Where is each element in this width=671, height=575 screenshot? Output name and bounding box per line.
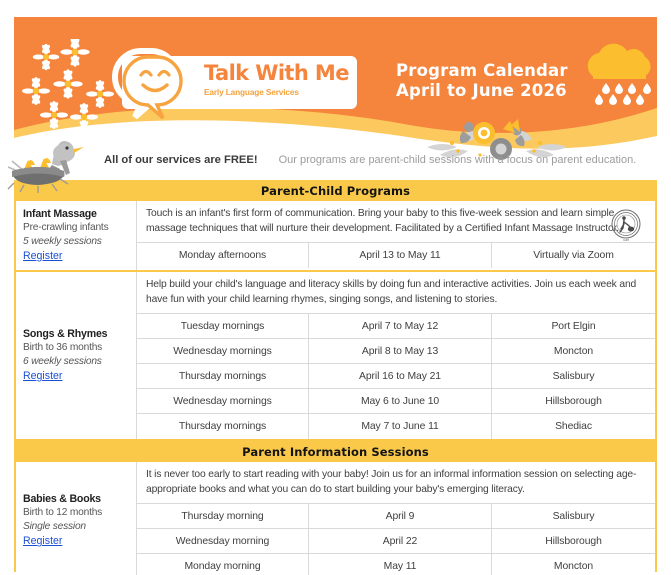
free-services-bold: All of our services are FREE! (104, 154, 258, 166)
program-title-line1: Program Calendar (396, 61, 568, 81)
schedule-row: Tuesday mornings April 7 to May 12 Port … (137, 314, 655, 339)
program-row-babies-books: Babies & Books Birth to 12 months Single… (16, 462, 655, 575)
program-title-line2: April to June 2026 (396, 81, 568, 101)
logo-title: Talk With Me (204, 63, 354, 84)
schedule-location: Moncton (492, 339, 655, 363)
schedule-dates: April 8 to May 13 (309, 339, 492, 363)
program-detail-infant-massage: Touch is an infant's first form of commu… (137, 201, 655, 270)
program-sessions: Single session (23, 520, 130, 534)
rain-cloud-icon (572, 43, 657, 105)
schedule-dates: May 6 to June 10 (309, 389, 492, 413)
svg-text:IAIM: IAIM (623, 238, 629, 242)
schedule-dates: April 7 to May 12 (309, 314, 492, 338)
schedule-dates: May 7 to June 11 (309, 414, 492, 439)
schedule-location: Moncton (492, 554, 655, 575)
schedule-row: Monday morning May 11 Moncton (137, 554, 655, 575)
program-description: Help build your child's language and lit… (137, 272, 655, 314)
logo-subtitle: Early Language Services (204, 87, 354, 97)
program-age-range: Birth to 36 months (23, 341, 130, 355)
schedule-when: Thursday morning (137, 504, 309, 528)
infant-massage-association-seal-icon: IAIM (606, 205, 646, 245)
schedule-row: Thursday morning April 9 Salisbury (137, 504, 655, 529)
schedule-row: Wednesday mornings April 8 to May 13 Mon… (137, 339, 655, 364)
program-description-text: Help build your child's language and lit… (146, 279, 636, 305)
schedule-row: Wednesday mornings May 6 to June 10 Hill… (137, 389, 655, 414)
schedule-when: Tuesday mornings (137, 314, 309, 338)
program-calendar-page: Talk With Me Early Language Services Pro… (0, 0, 671, 575)
schedule-location: Salisbury (492, 364, 655, 388)
schedule-location: Salisbury (492, 504, 655, 528)
program-sessions: 5 weekly sessions (23, 235, 130, 249)
program-age-range: Pre-crawling infants (23, 221, 130, 235)
daisy-flowers-icon (22, 39, 117, 129)
program-name: Songs & Rhymes (23, 327, 130, 341)
schedule-dates: April 16 to May 21 (309, 364, 492, 388)
program-sessions: 6 weekly sessions (23, 355, 130, 369)
program-info-infant-massage: Infant Massage Pre-crawling infants 5 we… (16, 201, 137, 270)
schedule-dates: April 22 (309, 529, 492, 553)
program-name: Babies & Books (23, 492, 130, 506)
program-info-songs-rhymes: Songs & Rhymes Birth to 36 months 6 week… (16, 272, 137, 439)
speech-bubble-smiley-logo-icon (111, 47, 191, 125)
bird-nest-icon (2, 131, 100, 197)
program-row-infant-massage: Infant Massage Pre-crawling infants 5 we… (16, 201, 655, 272)
free-services-light: Our programs are parent-child sessions w… (279, 154, 637, 166)
schedule-dates: April 13 to May 11 (309, 243, 492, 268)
section-header-parent-information: Parent Information Sessions (16, 441, 655, 462)
schedule-location: Virtually via Zoom (492, 243, 655, 268)
program-name: Infant Massage (23, 207, 130, 221)
program-description: Touch is an infant's first form of commu… (137, 201, 655, 243)
schedule-location: Port Elgin (492, 314, 655, 338)
program-info-babies-books: Babies & Books Birth to 12 months Single… (16, 462, 137, 575)
program-detail-songs-rhymes: Help build your child's language and lit… (137, 272, 655, 439)
schedule-location: Hillsborough (492, 529, 655, 553)
free-services-notice: All of our services are FREE! Our progra… (104, 151, 649, 169)
schedule-dates: April 9 (309, 504, 492, 528)
schedule-dates: May 11 (309, 554, 492, 575)
register-link[interactable]: Register (23, 249, 62, 264)
schedule-when: Wednesday mornings (137, 389, 309, 413)
program-description: It is never too early to start reading w… (137, 462, 655, 504)
schedule-when: Monday afternoons (137, 243, 309, 268)
logo-text-block: Talk With Me Early Language Services (204, 63, 354, 97)
schedule-when: Wednesday morning (137, 529, 309, 553)
schedule-when: Monday morning (137, 554, 309, 575)
register-link[interactable]: Register (23, 369, 62, 384)
program-row-songs-rhymes: Songs & Rhymes Birth to 36 months 6 week… (16, 272, 655, 441)
section-header-parent-child: Parent-Child Programs (16, 180, 655, 201)
program-age-range: Birth to 12 months (23, 506, 130, 520)
program-description-text: Touch is an infant's first form of commu… (146, 208, 619, 234)
schedule-location: Hillsborough (492, 389, 655, 413)
program-title: Program Calendar April to June 2026 (396, 61, 568, 101)
schedule-row: Thursday mornings April 16 to May 21 Sal… (137, 364, 655, 389)
program-description-text: It is never too early to start reading w… (146, 469, 636, 495)
program-detail-babies-books: It is never too early to start reading w… (137, 462, 655, 575)
schedule-row: Thursday mornings May 7 to June 11 Shedi… (137, 414, 655, 439)
programs-table: Parent-Child Programs Infant Massage Pre… (14, 180, 657, 572)
schedule-when: Thursday mornings (137, 364, 309, 388)
schedule-location: Shediac (492, 414, 655, 439)
register-link[interactable]: Register (23, 534, 62, 549)
schedule-when: Wednesday mornings (137, 339, 309, 363)
schedule-row: Monday afternoons April 13 to May 11 Vir… (137, 243, 655, 268)
schedule-row: Wednesday morning April 22 Hillsborough (137, 529, 655, 554)
schedule-when: Thursday mornings (137, 414, 309, 439)
